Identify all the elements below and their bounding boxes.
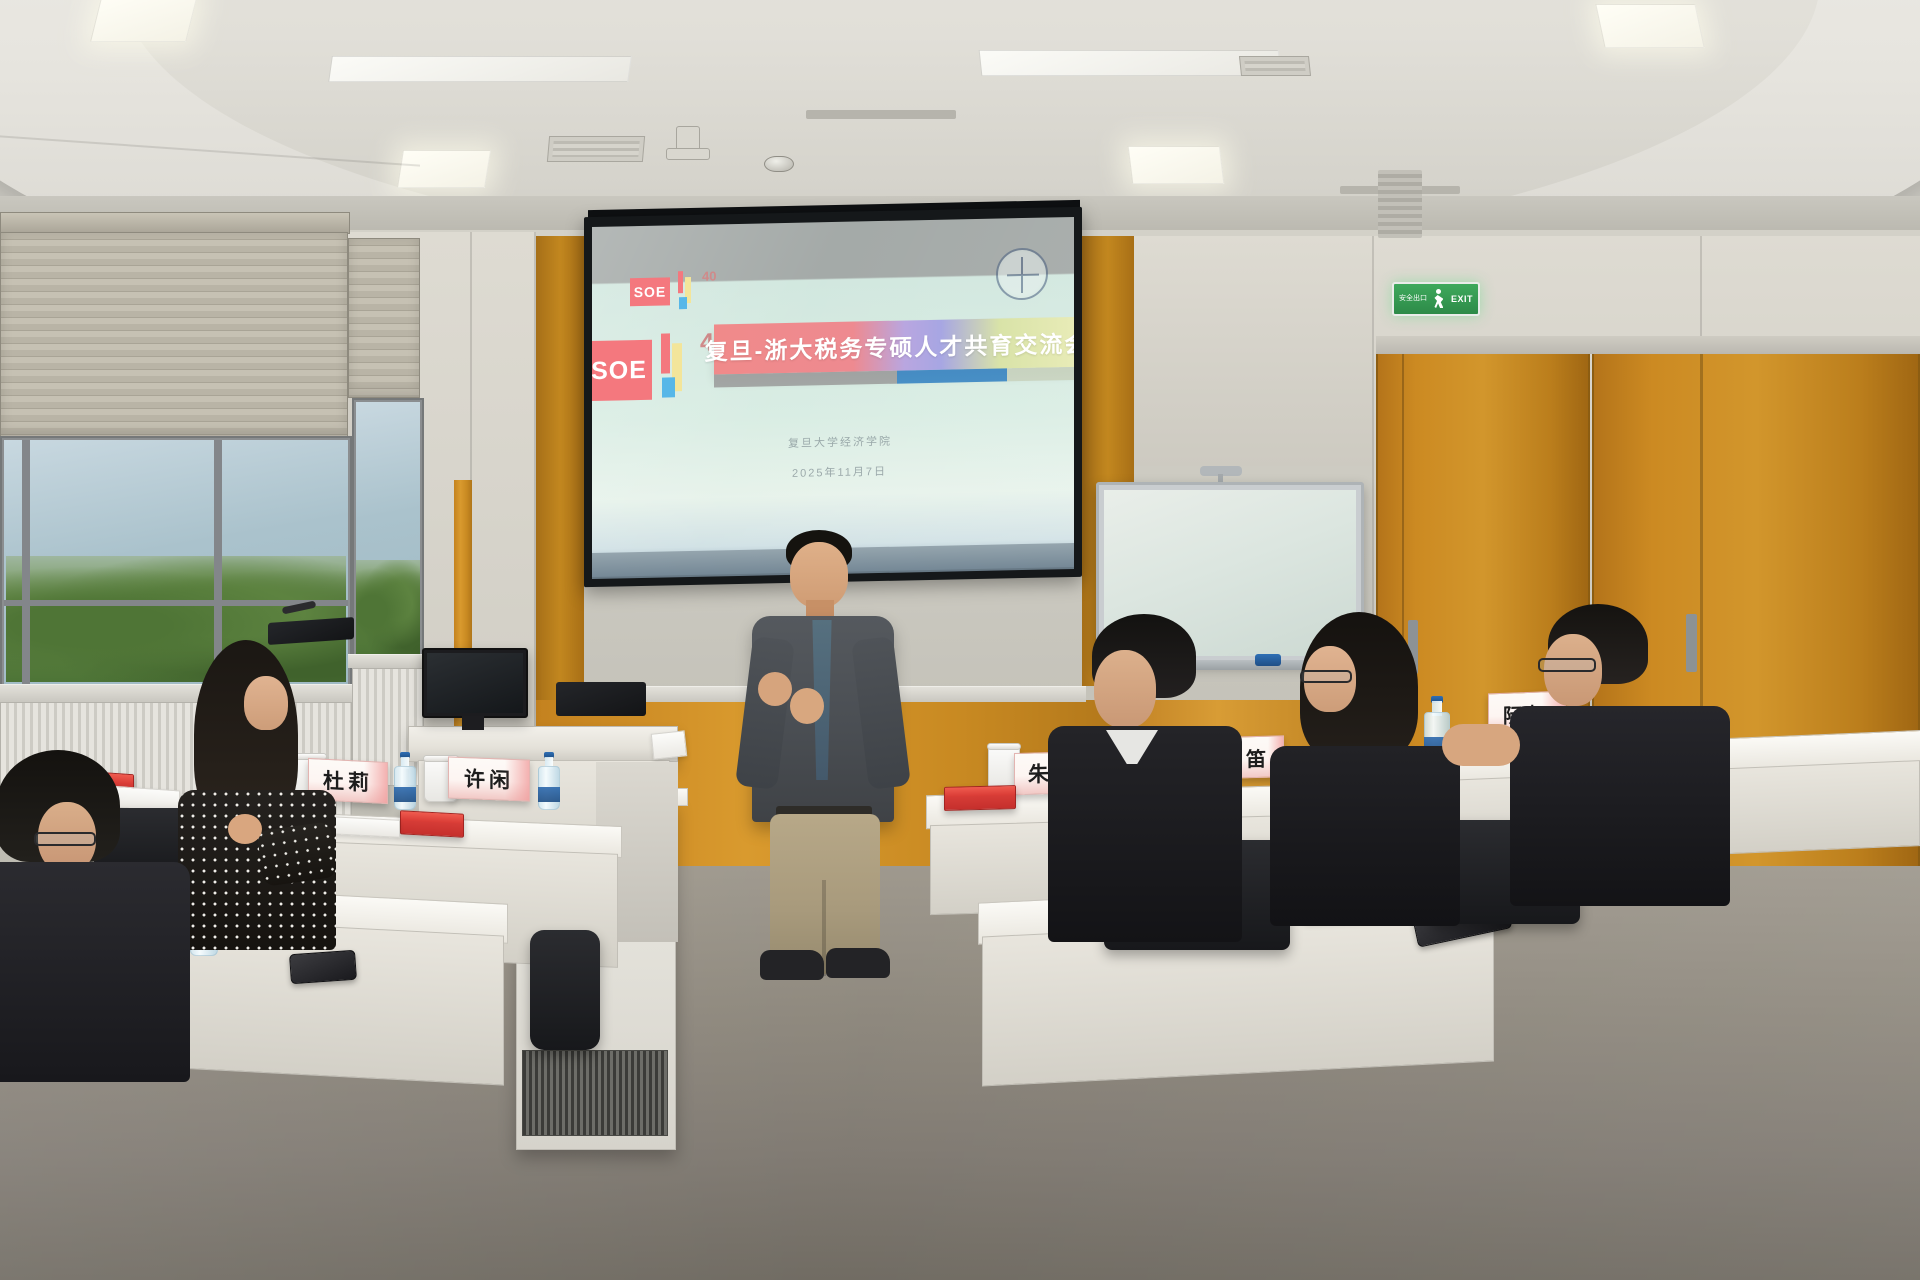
bar-red bbox=[661, 333, 670, 373]
bar-blue bbox=[679, 297, 687, 309]
nameplate-edge bbox=[505, 760, 529, 801]
attendee-torso bbox=[1270, 746, 1460, 926]
attendee-head bbox=[244, 676, 288, 730]
speaker-head bbox=[790, 542, 848, 608]
wall-vent-right bbox=[1378, 170, 1422, 238]
window-sill-right bbox=[348, 654, 426, 668]
bar-red bbox=[678, 271, 683, 293]
presentation-title: 复旦-浙大税务专硕人才共育交流会 bbox=[705, 325, 1074, 367]
wall-seam bbox=[1372, 236, 1374, 656]
attendee-hand bbox=[1442, 724, 1520, 766]
smartphone[interactable] bbox=[289, 950, 357, 985]
projector-mount bbox=[666, 148, 710, 160]
exit-sign: 安全出口 EXIT bbox=[1392, 282, 1480, 316]
speaker-left-hand bbox=[758, 672, 792, 706]
podium-speaker-grill bbox=[522, 1050, 668, 1136]
ceiling-light-panel bbox=[397, 150, 491, 188]
window-blind-upper-right[interactable] bbox=[348, 238, 420, 398]
attendee-head bbox=[1094, 650, 1156, 728]
attendee-torso bbox=[1048, 726, 1242, 942]
attendee-hand bbox=[228, 814, 262, 844]
nameplate-edge bbox=[364, 762, 387, 803]
attendee-glasses-icon bbox=[34, 832, 96, 846]
cup-lid bbox=[987, 743, 1021, 750]
ceiling-air-vent bbox=[547, 136, 645, 162]
window-foliage-view-right bbox=[356, 560, 420, 654]
soe-bars-small bbox=[676, 271, 698, 311]
person-attendee-foreground-left bbox=[0, 750, 206, 1080]
presentation-title-banner: 复旦-浙大税务专硕人才共育交流会 bbox=[714, 317, 1074, 375]
person-attendee-right-far bbox=[1520, 600, 1760, 900]
red-box-lid bbox=[945, 786, 1015, 797]
red-box-lid bbox=[401, 811, 463, 823]
exit-label-cn: 安全出口 bbox=[1399, 295, 1427, 303]
soe-logo-large: SOE bbox=[592, 340, 652, 401]
speaker-shoe-left bbox=[760, 950, 824, 980]
soe-bars-large bbox=[658, 333, 694, 402]
red-gift-box bbox=[944, 785, 1016, 811]
ceiling-light-panel bbox=[1595, 4, 1704, 48]
conference-room-photo: 安全出口 EXIT SOE 40 SOE bbox=[0, 0, 1920, 1280]
chair[interactable] bbox=[530, 930, 600, 1050]
vent-louvers bbox=[552, 141, 639, 157]
red-gift-box bbox=[400, 810, 464, 837]
fudan-university-emblem-icon bbox=[996, 247, 1048, 300]
nameplate-xuxian: 许闲 bbox=[448, 756, 530, 801]
attendee-arm bbox=[256, 821, 337, 887]
presentation-subtitle-org: 复旦大学经济学院 bbox=[788, 433, 892, 451]
window-mullion-vertical bbox=[22, 440, 30, 684]
laptop-on-desk bbox=[556, 682, 646, 716]
soe-logo-text-large: SOE bbox=[592, 355, 647, 385]
speaker-shoe-right bbox=[826, 948, 890, 978]
exit-sign-chinese: 安全出口 bbox=[1399, 295, 1427, 303]
running-person-icon bbox=[1432, 289, 1445, 309]
attendee-glasses-icon bbox=[1538, 658, 1596, 672]
speaker-right-hand bbox=[790, 688, 824, 724]
ceiling-air-vent bbox=[1239, 56, 1311, 76]
ceiling-tile bbox=[979, 50, 1282, 76]
soe-logo-text-small: SOE bbox=[634, 283, 667, 300]
ceiling-light-panel bbox=[90, 0, 198, 42]
person-attendee-right-middle bbox=[1264, 612, 1474, 912]
person-speaker bbox=[714, 520, 934, 980]
attendee-glasses-icon bbox=[1300, 670, 1352, 683]
window-blind-headrail bbox=[0, 212, 350, 234]
ceiling-light-panel bbox=[1128, 146, 1225, 184]
bottle-label bbox=[394, 787, 416, 802]
bar-blue bbox=[662, 377, 675, 397]
bottle-label bbox=[538, 787, 560, 802]
ceiling-tile bbox=[328, 56, 632, 82]
attendee-torso bbox=[0, 862, 190, 1082]
monitor-stand bbox=[462, 716, 484, 730]
window-blind-upper[interactable] bbox=[0, 232, 348, 438]
exit-label-en: EXIT bbox=[1451, 294, 1473, 304]
soe-logo-small: SOE bbox=[630, 277, 670, 306]
door-header-trim bbox=[1376, 336, 1920, 354]
monitor-screen bbox=[427, 653, 523, 713]
ceiling-slot bbox=[806, 110, 956, 119]
person-attendee-right-front bbox=[1042, 614, 1252, 944]
smoke-detector-icon bbox=[764, 156, 794, 172]
attendee-torso bbox=[1510, 706, 1730, 906]
vent-louvers bbox=[1244, 61, 1305, 71]
water-bottle bbox=[394, 752, 416, 810]
desktop-monitor bbox=[422, 648, 528, 718]
anniversary-number-small: 40 bbox=[702, 268, 716, 283]
presentation-subtitle-date: 2025年11月7日 bbox=[792, 463, 887, 481]
water-bottle bbox=[538, 752, 560, 810]
paper-sheet bbox=[651, 730, 688, 759]
